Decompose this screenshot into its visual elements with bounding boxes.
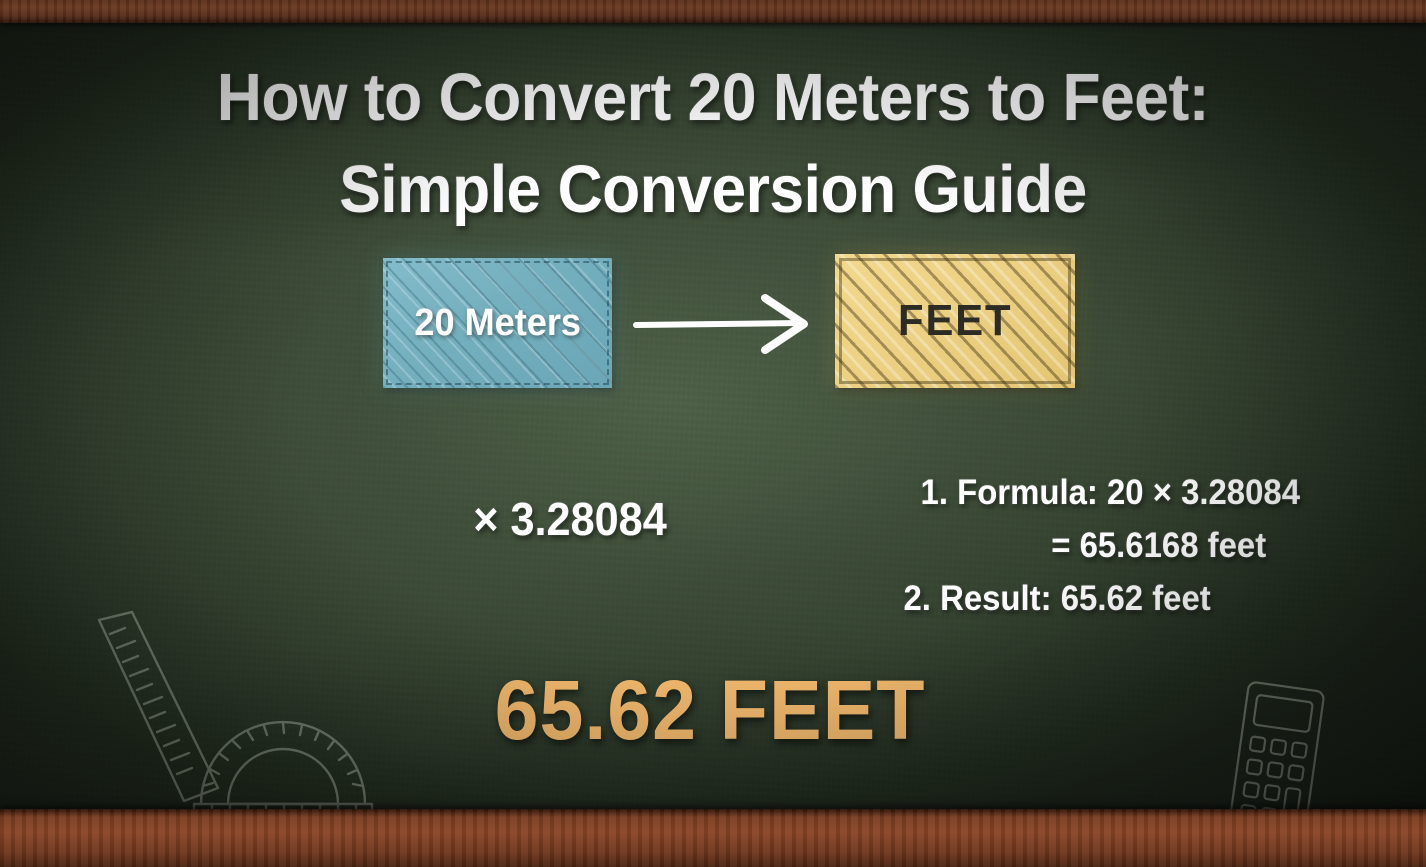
step-equals: = 65.6168 feet bbox=[774, 519, 1300, 572]
title-line-1: How to Convert 20 Meters to Feet: bbox=[50, 52, 1376, 144]
chalkboard-slide: How to Convert 20 Meters to Feet: Simple… bbox=[0, 0, 1426, 867]
source-unit-label: 20 Meters bbox=[414, 302, 581, 345]
page-title: How to Convert 20 Meters to Feet: Simple… bbox=[50, 52, 1376, 237]
source-unit-box: 20 Meters bbox=[383, 258, 612, 388]
step-result: 2. Result: 65.62 feet bbox=[774, 572, 1300, 625]
target-unit-label: FEET bbox=[898, 296, 1012, 346]
target-unit-box: FEET bbox=[835, 254, 1075, 388]
frame-bottom bbox=[0, 809, 1426, 867]
final-result: 65.62 FEET bbox=[249, 662, 1170, 759]
calculation-steps: 1. Formula: 20 × 3.28084 = 65.6168 feet … bbox=[774, 466, 1300, 626]
frame-top bbox=[0, 0, 1426, 23]
step-formula: 1. Formula: 20 × 3.28084 bbox=[774, 466, 1300, 519]
arrow-right-icon bbox=[632, 292, 828, 356]
title-line-2: Simple Conversion Guide bbox=[50, 144, 1376, 236]
conversion-factor: × 3.28084 bbox=[363, 492, 777, 546]
